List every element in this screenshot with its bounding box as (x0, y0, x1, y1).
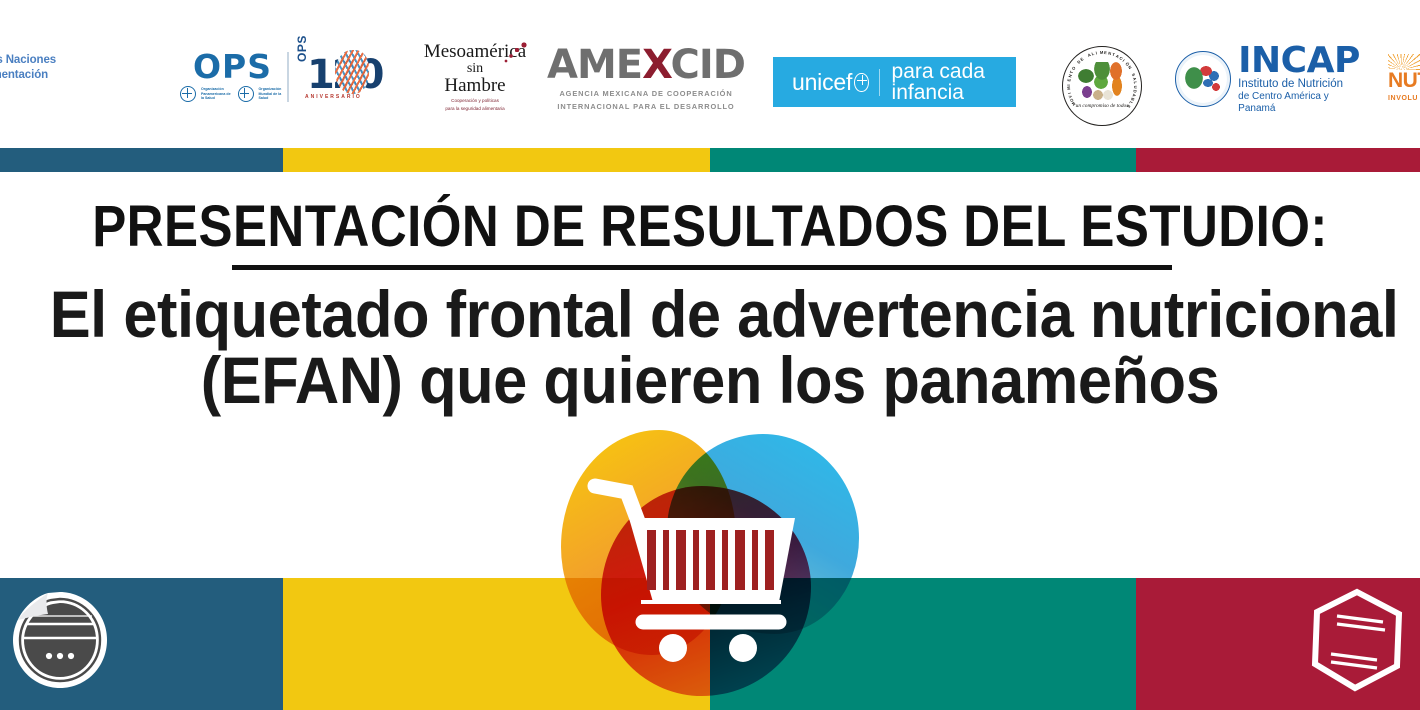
ops-emblem-caption-1: Organización Panamericana de la Salud (201, 87, 233, 101)
logo-divider (287, 52, 289, 102)
unicef-divider (879, 69, 880, 96)
incap-text-block: INCAP Instituto de Nutrición de Centro A… (1238, 44, 1360, 114)
mesoamerica-tagline-1: Cooperación y políticas (451, 98, 499, 104)
ops-120-anniversary-logo: OPS 120 ANIVERSARIO (295, 46, 373, 108)
fao-logo-line-2: para la Alimentación (0, 68, 48, 84)
nutri-sub: INVOLU (1388, 95, 1418, 102)
movimiento-alimentacion-saludable-logo: un compromiso de todos MOVIMIENTO DE ALI… (1062, 46, 1142, 126)
mesoamerica-dots-icon (502, 42, 532, 68)
amexcid-word-b: CID (671, 42, 745, 88)
americas-globe-icon (335, 50, 369, 94)
amexcid-wordmark: AMEXCID (547, 45, 745, 85)
ops-logo: OPS Organización Panamericana de la Salu… (180, 48, 285, 104)
subtitle-line-1: El etiquetado frontal de advertencia nut… (50, 281, 1371, 347)
shopping-cart-graphic (555, 428, 865, 696)
cart-icon (583, 476, 825, 666)
movimiento-ring-text: MOVIMIENTO DE ALIMENTACIÓN SALUDABLE (1062, 46, 1142, 126)
ops-emblem-caption-2: Organización Mundial de la Salud (259, 87, 286, 101)
amexcid-word-x: X (642, 42, 670, 88)
top-band-red (1136, 148, 1420, 172)
title-slide: ación de las Naciones para la Alimentaci… (0, 0, 1420, 710)
amexcid-sub-1: AGENCIA MEXICANA DE COOPERACIÓN (559, 89, 732, 99)
sun-rays-icon (1388, 54, 1420, 70)
ops-logo-word: OPS (193, 50, 272, 83)
top-band-green (710, 148, 1136, 172)
nutrition-seal-sticker-icon (8, 588, 112, 692)
nutri-wordmark: NUT (1388, 70, 1420, 91)
unicef-tagline: para cada infancia (892, 61, 1016, 103)
who-emblem-icon (238, 86, 254, 102)
incap-logo: INCAP Instituto de Nutrición de Centro A… (1185, 50, 1350, 108)
page-title: PRESENTACIÓN DE RESULTADOS DEL ESTUDIO: (85, 196, 1335, 258)
mesoamerica-line-2: sin (467, 61, 483, 76)
fao-logo-line-1: ación de las Naciones (0, 53, 56, 69)
ops-120-anniversary-label: ANIVERSARIO (305, 94, 362, 100)
mesoamerica-sin-hambre-logo: Mesoamérica sin Hambre Cooperación y pol… (420, 46, 530, 108)
title-underline (232, 265, 1172, 270)
unicef-emblem-icon (854, 73, 868, 92)
amexcid-word-a: AME (547, 42, 642, 88)
amexcid-sub-2: INTERNACIONAL PARA EL DESARROLLO (557, 102, 734, 112)
title-block: PRESENTACIÓN DE RESULTADOS DEL ESTUDIO: (0, 196, 1420, 258)
incap-seal-icon (1175, 51, 1231, 107)
incap-wordmark: INCAP (1238, 44, 1360, 78)
mesoamerica-line-3: Hambre (444, 76, 505, 96)
partner-logo-bar: ación de las Naciones para la Alimentaci… (0, 0, 1420, 148)
amexcid-logo: AMEXCID AGENCIA MEXICANA DE COOPERACIÓN … (548, 50, 744, 106)
ops-logo-emblems: Organización Panamericana de la Salud Or… (180, 86, 285, 102)
unicef-logo: unicef para cada infancia (773, 57, 1016, 107)
unicef-wordmark: unicef (773, 71, 852, 94)
subtitle-line-2: (EFAN) que quieren los panameños (50, 347, 1371, 413)
page-subtitle: El etiquetado frontal de advertencia nut… (0, 281, 1420, 413)
nutri-involucrate-logo: NUT INVOLU (1388, 48, 1420, 108)
hexagon-label-icon (1307, 588, 1407, 692)
paho-emblem-icon (180, 86, 196, 102)
top-band-yellow (283, 148, 710, 172)
incap-sub-2: de Centro América y Panamá (1238, 91, 1360, 114)
mesoamerica-tagline-2: para la seguridad alimentaria (445, 106, 504, 112)
top-band-blue (0, 148, 283, 172)
incap-sub-1: Instituto de Nutrición (1238, 78, 1360, 91)
fao-logo: ación de las Naciones para la Alimentaci… (0, 50, 128, 102)
